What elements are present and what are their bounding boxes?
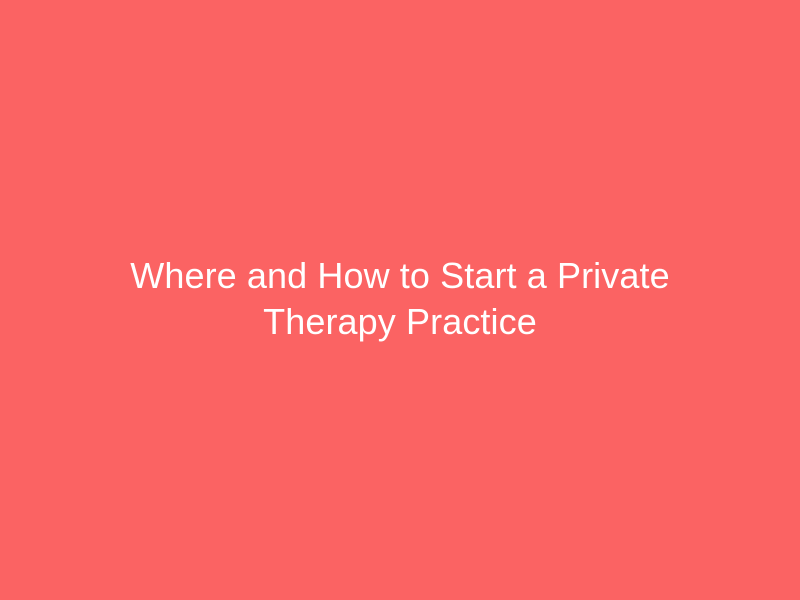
article-title-card: Where and How to Start a Private Therapy… — [0, 0, 800, 600]
page-title: Where and How to Start a Private Therapy… — [80, 253, 720, 345]
title-block: Where and How to Start a Private Therapy… — [80, 253, 720, 345]
